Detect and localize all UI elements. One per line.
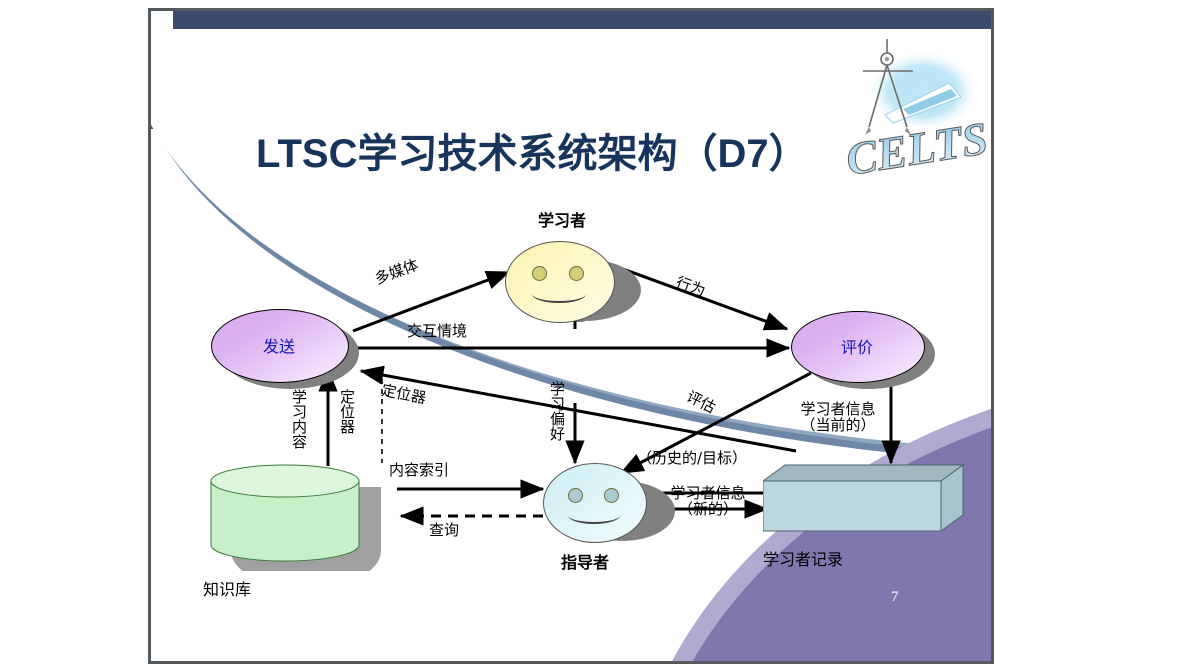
eye-right-icon — [569, 266, 584, 281]
delivery-ellipse — [211, 309, 349, 383]
smiley-face-icon — [505, 241, 615, 323]
node-instructor[interactable] — [543, 463, 647, 543]
node-evaluation[interactable]: 评价 — [791, 311, 931, 389]
node-knowledge-base[interactable]: 知识库 — [203, 463, 393, 571]
box-top-face — [763, 465, 963, 481]
slide-canvas: CELTS系列标准培训 2006.1 LTSC学习技术系统架构（D7） — [0, 0, 1187, 668]
node-label-knowledge-base: 知识库 — [203, 576, 351, 648]
edge-label-learner-info-new-line2: （新的） — [678, 500, 738, 518]
mouth-icon — [532, 285, 586, 303]
edge-label-learning-preference: 学习偏好 — [549, 381, 564, 441]
node-label-learner: 学习者 — [538, 207, 586, 231]
edge-label-learner-info-current: 学习者信息 （当前的） — [783, 401, 893, 433]
arrow-evaluation-to-delivery — [361, 371, 796, 451]
arrow-learner-to-evaluation — [623, 269, 787, 329]
mouth-icon — [568, 507, 620, 524]
edge-label-interaction-context: 交互情境 — [407, 324, 467, 340]
edge-label-locator-vertical: 定位器 — [339, 389, 354, 434]
edge-label-learner-info-new: 学习者信息 （新的） — [643, 485, 773, 517]
edge-label-history-goal: （历史的/目标） — [637, 451, 747, 467]
node-learner-records[interactable]: 学习者记录 — [763, 463, 965, 541]
smiley-face-icon — [543, 463, 647, 543]
eye-left-icon — [532, 266, 547, 281]
node-learner[interactable] — [505, 241, 615, 323]
eye-left-icon — [568, 488, 583, 503]
box-front-face — [763, 481, 941, 531]
edge-label-query: 查询 — [429, 523, 459, 539]
node-delivery[interactable]: 发送 — [211, 309, 351, 387]
edge-label-learner-info-current-line2: （当前的） — [800, 416, 875, 434]
cylinder-top — [211, 465, 359, 497]
architecture-diagram: 学习者 发送 评价 — [151, 11, 991, 661]
node-label-learner-records: 学习者记录 — [763, 546, 941, 596]
slide-frame: CELTS系列标准培训 2006.1 LTSC学习技术系统架构（D7） — [148, 8, 994, 664]
evaluation-ellipse — [791, 311, 925, 383]
edge-label-content-index: 内容索引 — [389, 463, 449, 479]
eye-right-icon — [604, 488, 619, 503]
node-label-instructor: 指导者 — [561, 549, 609, 573]
edge-label-learning-content: 学习内容 — [291, 389, 306, 449]
